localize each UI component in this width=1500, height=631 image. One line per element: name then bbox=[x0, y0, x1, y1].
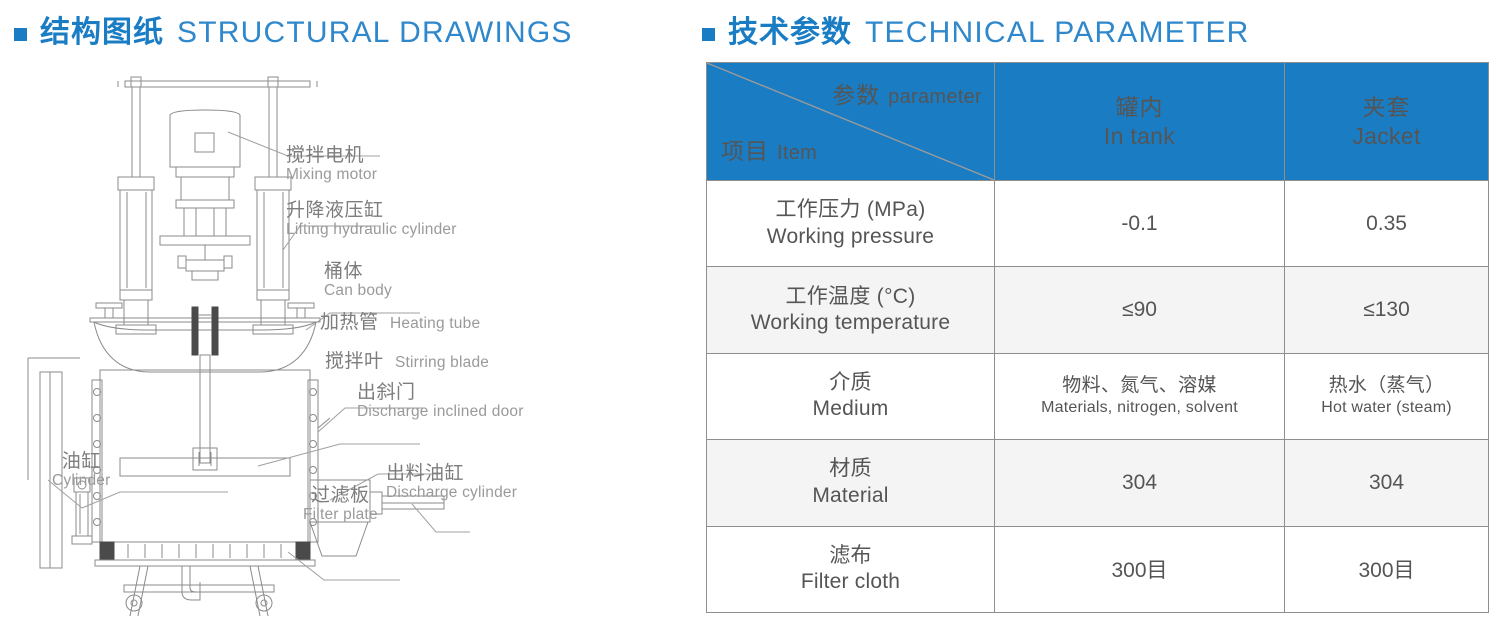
header-parameter-en: parameter bbox=[888, 86, 982, 108]
bullet-square-icon bbox=[14, 28, 27, 41]
callout-heating-tube-cn: 加热管 bbox=[320, 312, 379, 333]
callout-oil-cylinder-cn: 油缸 bbox=[52, 451, 110, 472]
left-hydraulic-cylinder bbox=[116, 177, 156, 334]
callout-discharge-cylinder-cn: 出料油缸 bbox=[386, 463, 517, 484]
bullet-square-icon bbox=[702, 28, 715, 41]
page-root: 结构图纸 STRUCTURAL DRAWINGS 技术参数 TECHNICAL … bbox=[0, 0, 1500, 631]
callout-filter-plate: 过滤板 Filter plate bbox=[303, 485, 378, 524]
heading-right-chinese: 技术参数 bbox=[728, 18, 852, 48]
row-3-item-cn: 材质 bbox=[713, 456, 988, 482]
row-3-item: 材质 Material bbox=[707, 440, 995, 526]
row-3-in-tank: 304 bbox=[995, 440, 1285, 526]
row-4-item-en: Filter cloth bbox=[713, 569, 988, 595]
row-1-item: 工作温度 (°C) Working temperature bbox=[707, 267, 995, 353]
can-body-dome bbox=[90, 318, 320, 372]
table-header-corner-cell: 参数parameter 项目Item bbox=[707, 63, 995, 181]
table-header-in-tank: 罐内 In tank bbox=[995, 63, 1285, 181]
machine-line-drawing bbox=[0, 60, 690, 620]
callout-can-body-en: Can body bbox=[324, 282, 392, 299]
section-heading-technical-parameter: 技术参数 TECHNICAL PARAMETER bbox=[702, 18, 1250, 48]
callout-discharge-door-cn: 出斜门 bbox=[357, 382, 524, 403]
technical-parameter-table: 参数parameter 项目Item 罐内 In tank 夹套 Jacket bbox=[706, 62, 1489, 613]
row-2-jacket-cn: 热水（蒸气） bbox=[1291, 374, 1482, 398]
table-row: 材质 Material 304 304 bbox=[707, 440, 1489, 526]
table-row: 滤布 Filter cloth 300目 300目 bbox=[707, 526, 1489, 612]
row-3-item-en: Material bbox=[713, 483, 988, 509]
callout-can-body: 桶体 Can body bbox=[324, 261, 392, 300]
heading-left-english: STRUCTURAL DRAWINGS bbox=[177, 18, 573, 48]
header-parameter-label: 参数parameter bbox=[832, 76, 982, 110]
row-2-item: 介质 Medium bbox=[707, 353, 995, 439]
callout-discharge-inclined-door: 出斜门 Discharge inclined door bbox=[357, 382, 524, 421]
stirring-blade-assembly bbox=[120, 355, 290, 476]
row-2-jacket: 热水（蒸气） Hot water (steam) bbox=[1285, 353, 1489, 439]
structural-drawing-panel: 搅拌电机 Mixing motor 升降液压缸 Lifting hydrauli… bbox=[0, 60, 690, 620]
row-0-item-cn: 工作压力 (MPa) bbox=[713, 197, 988, 223]
callout-lifting-cylinder-cn: 升降液压缸 bbox=[286, 200, 457, 221]
shaft-coupling bbox=[178, 245, 232, 280]
callout-oil-cylinder: 油缸 Cylinder bbox=[52, 451, 110, 490]
mixing-motor bbox=[160, 110, 250, 245]
callout-stirring-blade: 搅拌叶 Stirring blade bbox=[325, 351, 489, 372]
table-row: 工作压力 (MPa) Working pressure -0.1 0.35 bbox=[707, 181, 1489, 267]
row-1-item-cn: 工作温度 (°C) bbox=[713, 284, 988, 310]
section-heading-structural-drawings: 结构图纸 STRUCTURAL DRAWINGS bbox=[14, 18, 573, 48]
row-2-in-tank-en: Materials, nitrogen, solvent bbox=[1001, 398, 1278, 418]
callout-lifting-hydraulic-cylinder: 升降液压缸 Lifting hydraulic cylinder bbox=[286, 200, 457, 239]
table-header-row: 参数parameter 项目Item 罐内 In tank 夹套 Jacket bbox=[707, 63, 1489, 181]
callout-heating-tube: 加热管 Heating tube bbox=[320, 312, 480, 333]
row-4-item-cn: 滤布 bbox=[713, 543, 988, 569]
header-jacket-cn: 夹套 bbox=[1291, 93, 1482, 121]
lid-nozzles bbox=[96, 303, 314, 318]
row-1-in-tank: ≤90 bbox=[995, 267, 1285, 353]
callout-discharge-cylinder-en: Discharge cylinder bbox=[386, 484, 517, 501]
header-parameter-cn: 参数 bbox=[832, 82, 880, 108]
callout-oil-cylinder-en: Cylinder bbox=[52, 472, 110, 489]
row-4-item: 滤布 Filter cloth bbox=[707, 526, 995, 612]
row-2-item-cn: 介质 bbox=[713, 370, 988, 396]
row-4-jacket: 300目 bbox=[1285, 526, 1489, 612]
callout-mixing-motor: 搅拌电机 Mixing motor bbox=[286, 145, 377, 184]
row-4-in-tank: 300目 bbox=[995, 526, 1285, 612]
can-body-shell bbox=[92, 370, 318, 542]
callout-stirring-blade-cn: 搅拌叶 bbox=[325, 351, 384, 372]
row-2-in-tank-cn: 物料、氮气、溶媒 bbox=[1001, 374, 1278, 398]
callout-mixing-motor-cn: 搅拌电机 bbox=[286, 145, 377, 166]
header-item-cn: 项目 bbox=[721, 138, 769, 164]
table-header-jacket: 夹套 Jacket bbox=[1285, 63, 1489, 181]
table-row: 介质 Medium 物料、氮气、溶媒 Materials, nitrogen, … bbox=[707, 353, 1489, 439]
callout-can-body-cn: 桶体 bbox=[324, 261, 392, 282]
header-in-tank-cn: 罐内 bbox=[1001, 93, 1278, 121]
header-jacket-en: Jacket bbox=[1291, 122, 1482, 150]
row-0-in-tank: -0.1 bbox=[995, 181, 1285, 267]
callout-discharge-door-en: Discharge inclined door bbox=[357, 403, 524, 420]
row-2-jacket-en: Hot water (steam) bbox=[1291, 398, 1482, 418]
row-2-item-en: Medium bbox=[713, 396, 988, 422]
row-0-item: 工作压力 (MPa) Working pressure bbox=[707, 181, 995, 267]
callout-mixing-motor-en: Mixing motor bbox=[286, 166, 377, 183]
row-3-jacket: 304 bbox=[1285, 440, 1489, 526]
callout-filter-plate-en: Filter plate bbox=[303, 506, 378, 523]
table-row: 工作温度 (°C) Working temperature ≤90 ≤130 bbox=[707, 267, 1489, 353]
header-item-label: 项目Item bbox=[721, 132, 817, 166]
row-0-jacket: 0.35 bbox=[1285, 181, 1489, 267]
row-2-in-tank: 物料、氮气、溶媒 Materials, nitrogen, solvent bbox=[995, 353, 1285, 439]
callout-heating-tube-en: Heating tube bbox=[390, 315, 480, 332]
header-in-tank-en: In tank bbox=[1001, 122, 1278, 150]
base-legs-and-casters bbox=[124, 566, 274, 616]
callout-lifting-cylinder-en: Lifting hydraulic cylinder bbox=[286, 221, 457, 238]
row-1-jacket: ≤130 bbox=[1285, 267, 1489, 353]
row-0-item-en: Working pressure bbox=[713, 224, 988, 250]
heading-right-english: TECHNICAL PARAMETER bbox=[865, 18, 1250, 48]
heading-left-chinese: 结构图纸 bbox=[40, 18, 164, 48]
callout-filter-plate-cn: 过滤板 bbox=[303, 485, 378, 506]
header-item-en: Item bbox=[777, 142, 817, 164]
row-1-item-en: Working temperature bbox=[713, 310, 988, 336]
callout-discharge-cylinder: 出料油缸 Discharge cylinder bbox=[386, 463, 517, 502]
vessel-neck-seal bbox=[192, 307, 218, 355]
callout-stirring-blade-en: Stirring blade bbox=[395, 354, 489, 371]
filter-plate bbox=[95, 542, 315, 566]
